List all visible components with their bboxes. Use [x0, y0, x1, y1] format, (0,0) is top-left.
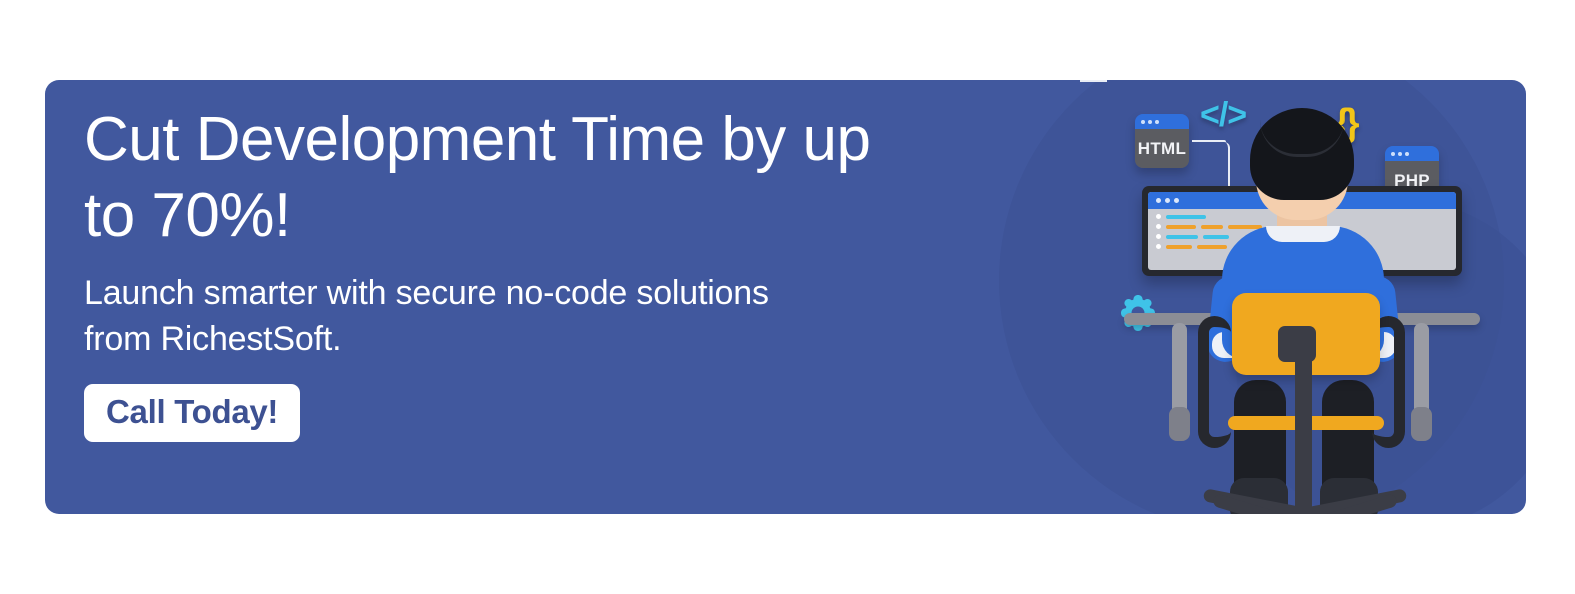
code-segment [1203, 235, 1229, 239]
desk-leg-right [1414, 323, 1429, 435]
window-dot-icon [1398, 152, 1402, 156]
developer-illustration: </> {} HTML PHP [1080, 80, 1526, 514]
code-tag-icon: </> [1200, 96, 1246, 135]
code-segment [1166, 215, 1206, 219]
html-badge-label: HTML [1135, 129, 1189, 168]
call-today-button[interactable]: Call Today! [84, 384, 300, 442]
window-dot-icon [1148, 120, 1152, 124]
window-dot-icon [1155, 120, 1159, 124]
banner-subheadline: Launch smarter with secure no-code solut… [84, 270, 984, 362]
window-dot-icon [1141, 120, 1145, 124]
window-dot-icon [1165, 198, 1170, 203]
desk-leg-left [1172, 323, 1187, 435]
chair-post [1295, 338, 1312, 514]
chair-armrest-left [1198, 316, 1231, 448]
window-titlebar [1385, 146, 1439, 161]
code-segment [1166, 245, 1192, 249]
window-dot-icon [1156, 198, 1161, 203]
page-title: Cut Development Time by up to 70%! [84, 102, 984, 254]
connector-line-php [1080, 80, 1106, 104]
code-segment [1166, 235, 1198, 239]
banner-copy: Cut Development Time by up to 70%! Launc… [84, 102, 984, 442]
bullet-icon [1156, 224, 1161, 229]
window-titlebar [1135, 114, 1189, 129]
window-dot-icon [1405, 152, 1409, 156]
bullet-icon [1156, 244, 1161, 249]
bullet-icon [1156, 214, 1161, 219]
bullet-icon [1156, 234, 1161, 239]
window-dot-icon [1391, 152, 1395, 156]
person-hair [1250, 108, 1354, 200]
code-segment [1197, 245, 1227, 249]
code-segment [1201, 225, 1223, 229]
page-root: Cut Development Time by up to 70%! Launc… [0, 0, 1575, 594]
chair-headrest-block [1278, 326, 1316, 362]
html-badge-card: HTML [1135, 114, 1189, 168]
code-segment [1166, 225, 1196, 229]
promo-banner: Cut Development Time by up to 70%! Launc… [45, 80, 1526, 514]
person-collar [1266, 226, 1340, 242]
code-segment [1228, 225, 1262, 229]
window-dot-icon [1174, 198, 1179, 203]
